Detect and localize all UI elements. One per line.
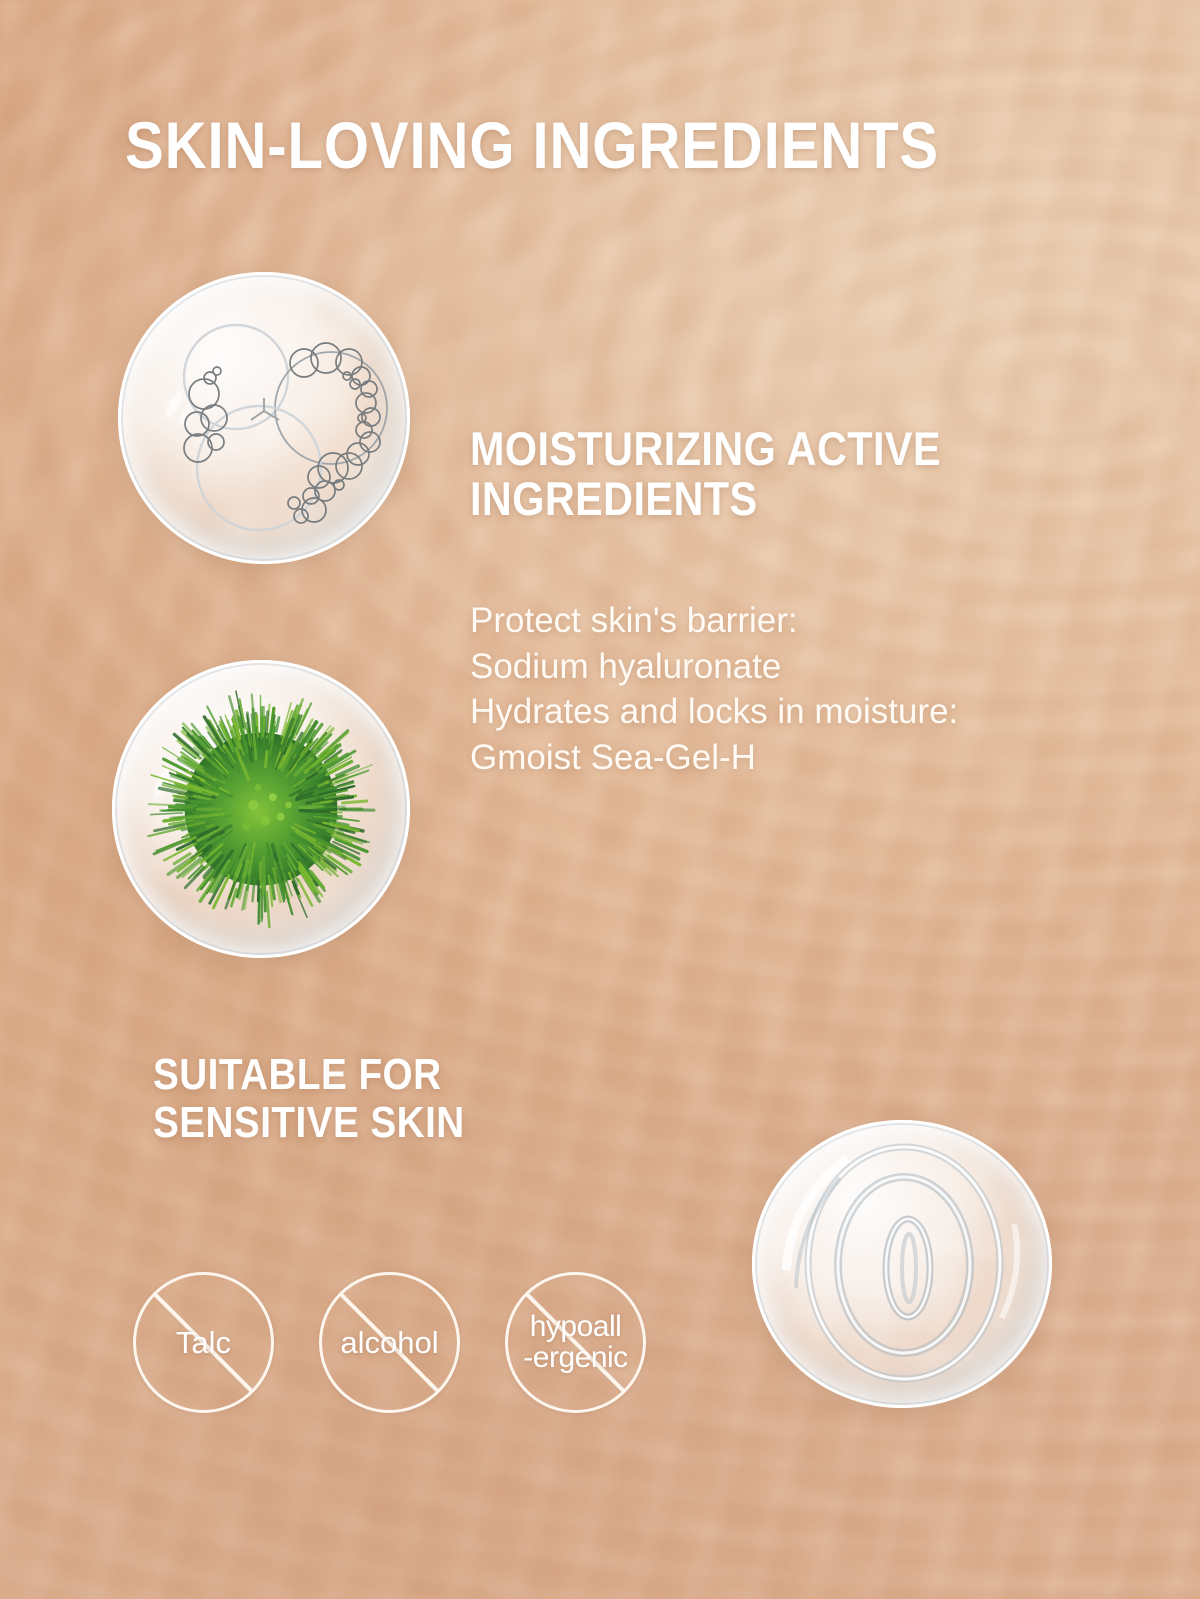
droplet-rim — [752, 1120, 1052, 1408]
section-sensitive-heading: SUITABLE FOR SENSITIVE SKIN — [153, 1051, 465, 1148]
no-alcohol-icon[interactable]: alcohol — [319, 1272, 460, 1413]
no-hypoallergenic-icon[interactable]: hypoall -ergenic — [505, 1272, 646, 1413]
badge-label: Talc — [176, 1327, 231, 1359]
section-moisturizing-body: Protect skin's barrier: Sodium hyalurona… — [470, 598, 958, 780]
infographic-canvas: SKIN-LOVING INGREDIENTS — [0, 0, 1200, 1599]
page-title: SKIN-LOVING INGREDIENTS — [125, 112, 939, 179]
clear-gel-blob-icon — [752, 1120, 1052, 1408]
section-moisturizing-heading: MOISTURIZING ACTIVE INGREDIENTS — [470, 424, 941, 524]
no-talc-icon[interactable]: Talc — [133, 1272, 274, 1413]
free-from-badge-group: Talc alcohol hypoall -ergenic — [133, 1272, 646, 1413]
badge-label: alcohol — [340, 1327, 438, 1359]
droplet-rim — [118, 272, 410, 564]
droplet-rim — [112, 660, 410, 958]
water-droplet-moss-icon — [112, 660, 410, 958]
badge-label: hypoall -ergenic — [523, 1312, 627, 1373]
water-droplet-bubbles-icon — [118, 272, 410, 564]
